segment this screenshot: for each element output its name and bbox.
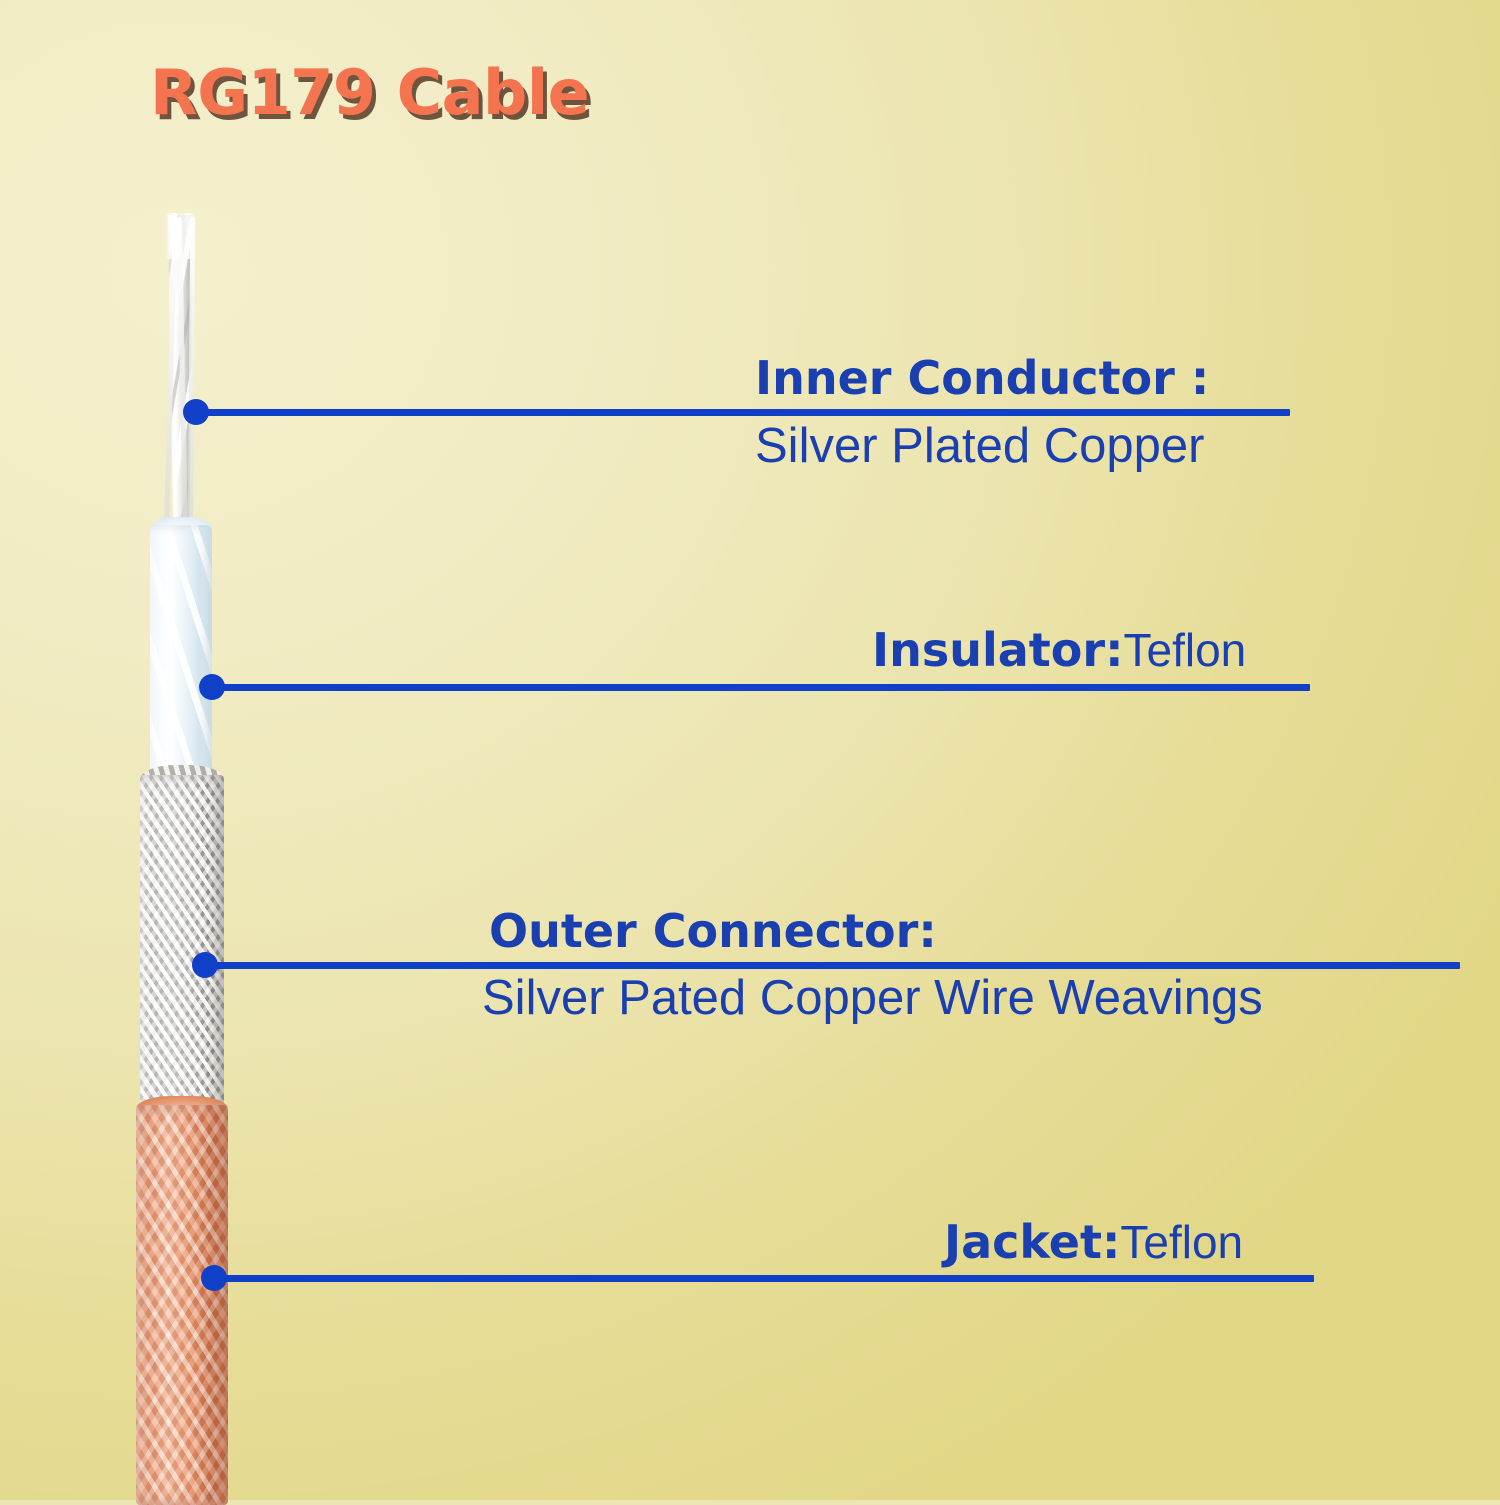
callout-body: Silver Plated Copper xyxy=(755,419,1204,473)
callout-heading: Insulator: xyxy=(872,623,1123,677)
callout-heading: Jacket: xyxy=(944,1215,1120,1269)
leader-line xyxy=(196,409,1290,416)
callout-inner-conductor: Inner Conductor : xyxy=(755,352,1209,404)
callout-body: Silver Pated Copper Wire Weavings xyxy=(482,971,1263,1025)
callout-body: Teflon xyxy=(1123,624,1246,676)
conductor-frayed-tip xyxy=(164,213,196,259)
callout-outer-connector: Outer Connector: xyxy=(489,905,937,957)
callout-heading: Outer Connector: xyxy=(489,904,937,958)
jacket-surface xyxy=(136,1105,228,1505)
inner-conductor-layer xyxy=(118,215,308,545)
outer-jacket-layer xyxy=(118,1105,308,1505)
callout-heading: Inner Conductor : xyxy=(755,351,1209,405)
leader-line xyxy=(205,962,1460,969)
diagram-canvas: RG179 Cable Inner Conductor : Silver Pla… xyxy=(0,0,1500,1500)
callout-insulator: Insulator:Teflon xyxy=(872,624,1246,676)
callout-body: Teflon xyxy=(1120,1216,1243,1268)
callout-jacket: Jacket:Teflon xyxy=(944,1216,1243,1268)
leader-line xyxy=(214,1275,1314,1282)
conductor-strand xyxy=(188,217,195,545)
page-title: RG179 Cable xyxy=(150,56,589,129)
leader-line xyxy=(212,684,1310,691)
callout-inner-conductor-body: Silver Plated Copper xyxy=(755,418,1204,474)
callout-outer-connector-body: Silver Pated Copper Wire Weavings xyxy=(482,970,1263,1026)
